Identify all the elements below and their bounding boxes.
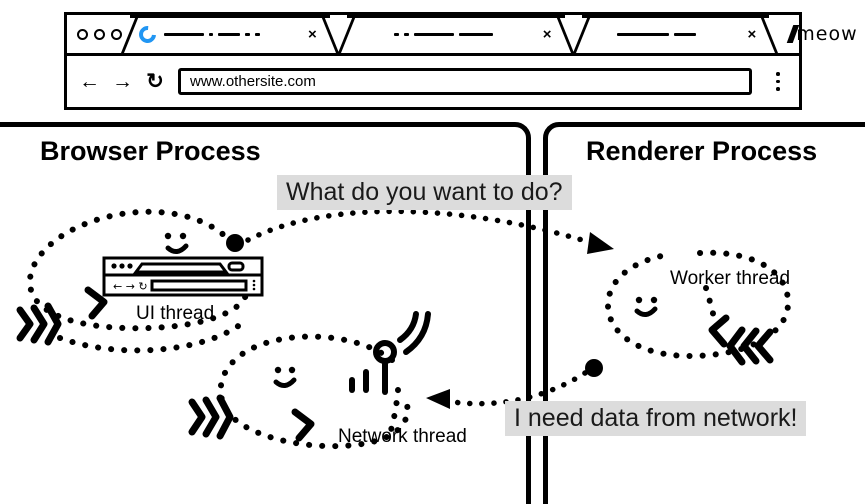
- tab-3-body[interactable]: ×: [587, 15, 765, 53]
- network-thread-label: Network thread: [338, 426, 467, 448]
- worker-thread-label: Worker thread: [670, 268, 790, 290]
- tab-1-title-placeholder: [164, 33, 260, 36]
- tab-left-edge: [121, 15, 135, 53]
- tab-right-edge: [764, 15, 778, 53]
- tab-strip: × ×: [67, 15, 799, 56]
- browser-menu-icon[interactable]: [765, 72, 787, 91]
- tab-top-edge: [347, 15, 565, 18]
- tab-top-edge: [130, 15, 330, 18]
- brand-label: meow: [796, 23, 865, 45]
- tab-3-title-placeholder: [617, 33, 696, 36]
- window-controls[interactable]: [67, 29, 122, 40]
- tab-1-close-icon[interactable]: ×: [304, 27, 321, 42]
- reload-icon[interactable]: ↻: [145, 71, 165, 92]
- renderer-process-panel: [543, 122, 865, 504]
- tab-right-edge: [325, 15, 339, 53]
- tab-1-body[interactable]: ×: [135, 15, 325, 53]
- browser-tab-3[interactable]: ×: [573, 15, 779, 53]
- forward-icon[interactable]: →: [112, 71, 132, 92]
- address-bar-row: ← → ↻ www.othersite.com: [67, 56, 799, 110]
- browser-tab-2[interactable]: ×: [338, 15, 574, 53]
- diagram-canvas: × ×: [0, 0, 865, 504]
- loading-spinner-icon: [136, 22, 160, 46]
- renderer-process-title: Renderer Process: [586, 136, 817, 167]
- address-bar-input[interactable]: www.othersite.com: [178, 68, 752, 95]
- back-icon[interactable]: ←: [79, 71, 99, 92]
- tab-2-close-icon[interactable]: ×: [539, 27, 556, 42]
- message-request: What do you want to do?: [277, 175, 572, 210]
- tab-3-close-icon[interactable]: ×: [744, 27, 761, 42]
- tab-top-edge: [582, 15, 770, 18]
- window-minimize-icon[interactable]: [94, 29, 105, 40]
- browser-tab-1[interactable]: ×: [121, 15, 339, 53]
- message-response: I need data from network!: [505, 401, 806, 436]
- tab-2-title-placeholder: [394, 33, 493, 36]
- ui-thread-label: UI thread: [136, 303, 214, 325]
- tab-left-edge: [338, 15, 352, 53]
- tab-right-edge: [560, 15, 574, 53]
- browser-window-mock: × ×: [64, 12, 802, 110]
- window-close-icon[interactable]: [77, 29, 88, 40]
- tab-left-edge: [573, 15, 587, 53]
- browser-process-title: Browser Process: [40, 136, 261, 167]
- tab-2-body[interactable]: ×: [352, 15, 560, 53]
